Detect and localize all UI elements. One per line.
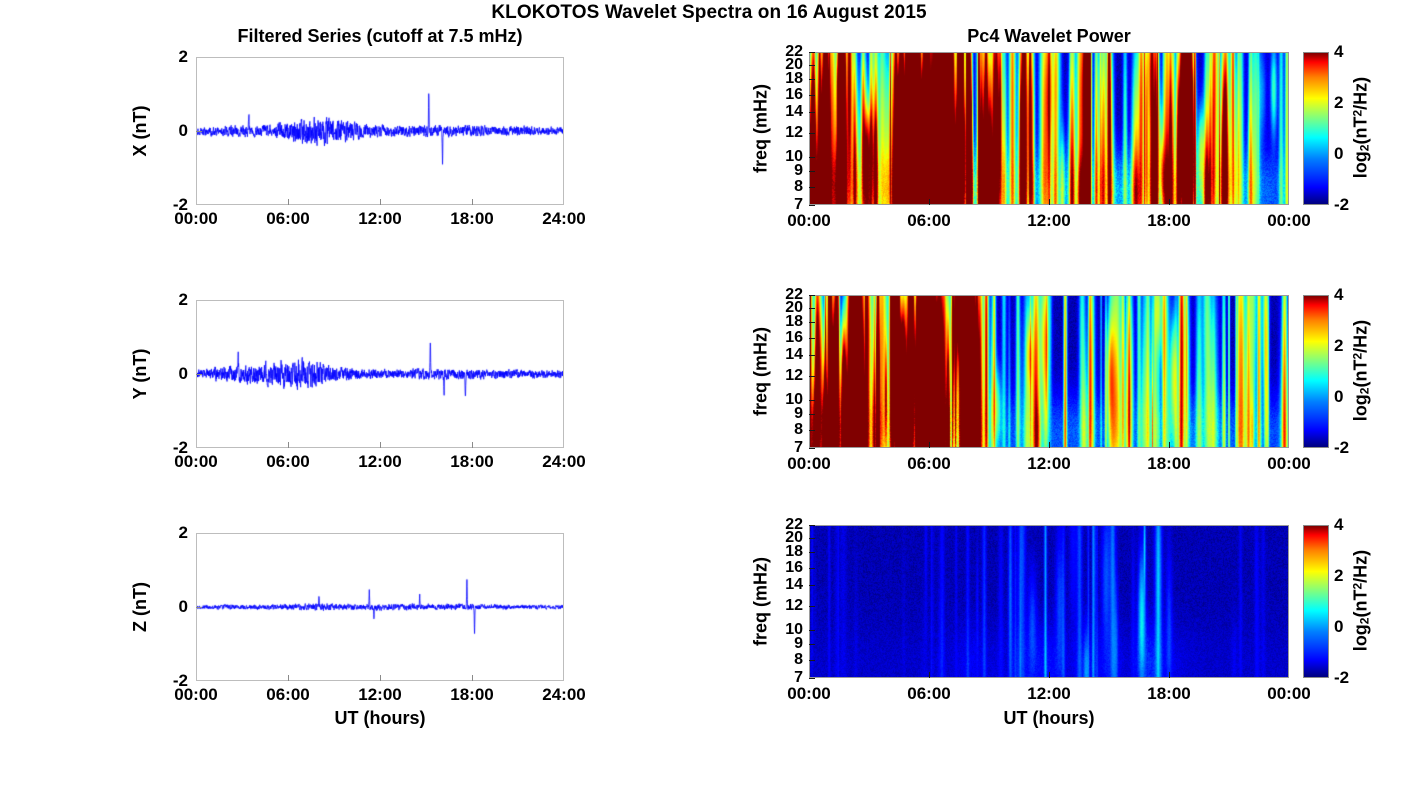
xtick-label-x-3: 18:00 bbox=[450, 209, 493, 229]
spec-ytick-mark-x-6 bbox=[809, 157, 815, 158]
spec-ytick-mark-y-7 bbox=[809, 414, 815, 415]
xtick-mark-y-2 bbox=[380, 442, 381, 448]
spec-ytick-mark-y-0 bbox=[809, 295, 815, 296]
spec-xtick-mark-z-1 bbox=[929, 672, 930, 678]
ytick-mark-z-1 bbox=[196, 607, 202, 608]
colorbar-tick-x-3: -2 bbox=[1334, 195, 1349, 215]
spec-ytick-mark-x-3 bbox=[809, 95, 815, 96]
spec-ytick-mark-x-2 bbox=[809, 79, 815, 80]
colorbar-y[interactable] bbox=[1303, 295, 1329, 448]
xtick-mark-y-1 bbox=[288, 442, 289, 448]
spec-ytick-mark-z-1 bbox=[809, 538, 815, 539]
spec-ytick-mark-y-3 bbox=[809, 338, 815, 339]
spec-xtick-label-x-2: 12:00 bbox=[1027, 211, 1070, 231]
spec-xtick-label-z-2: 12:00 bbox=[1027, 684, 1070, 704]
spectrogram-z bbox=[810, 526, 1288, 677]
spec-ytick-mark-x-0 bbox=[809, 52, 815, 53]
colorbar-tick-y-0: 4 bbox=[1334, 285, 1343, 305]
xtick-label-z-3: 18:00 bbox=[450, 685, 493, 705]
spec-xtick-label-x-4: 00:00 bbox=[1267, 211, 1310, 231]
spec-xtick-mark-z-3 bbox=[1169, 672, 1170, 678]
spec-xtick-mark-y-3 bbox=[1169, 442, 1170, 448]
xtick-label-x-2: 12:00 bbox=[358, 209, 401, 229]
spec-xtick-mark-x-2 bbox=[1049, 199, 1050, 205]
ytick-label-x-2: -2 bbox=[148, 195, 188, 215]
spec-xtick-label-x-3: 18:00 bbox=[1147, 211, 1190, 231]
xtick-mark-x-3 bbox=[472, 199, 473, 205]
colorbar-label-y: log2(nT2/Hz) bbox=[1351, 270, 1372, 470]
ytick-mark-x-1 bbox=[196, 131, 202, 132]
xtick-mark-z-3 bbox=[472, 675, 473, 681]
spec-xtick-label-y-0: 00:00 bbox=[787, 454, 830, 474]
spec-ytick-mark-x-5 bbox=[809, 133, 815, 134]
series-z-filtered bbox=[197, 534, 563, 680]
ytick-mark-y-1 bbox=[196, 374, 202, 375]
spec-ytick-mark-y-8 bbox=[809, 430, 815, 431]
colorbar-tick-x-2: 0 bbox=[1334, 144, 1343, 164]
colorbar-tick-z-2: 0 bbox=[1334, 617, 1343, 637]
spec-ytick-mark-z-6 bbox=[809, 630, 815, 631]
xtick-label-y-4: 24:00 bbox=[542, 452, 585, 472]
colorbar-tick-z-3: -2 bbox=[1334, 668, 1349, 688]
xtick-mark-z-1 bbox=[288, 675, 289, 681]
spec-ytick-mark-y-1 bbox=[809, 308, 815, 309]
spec-ytick-mark-x-8 bbox=[809, 187, 815, 188]
ytick-label-z-1: 0 bbox=[148, 597, 188, 617]
series-y-filtered bbox=[197, 301, 563, 447]
xtick-label-y-2: 12:00 bbox=[358, 452, 401, 472]
spec-xtick-label-z-1: 06:00 bbox=[907, 684, 950, 704]
spec-ytick-mark-y-9 bbox=[809, 448, 815, 449]
spec-ytick-mark-z-2 bbox=[809, 552, 815, 553]
colorbar-tick-x-1: 2 bbox=[1334, 93, 1343, 113]
spec-ytick-mark-z-7 bbox=[809, 644, 815, 645]
ytick-label-z-0: 2 bbox=[148, 523, 188, 543]
xlabel-right: UT (hours) bbox=[809, 708, 1289, 729]
figure-suptitle: KLOKOTOS Wavelet Spectra on 16 August 20… bbox=[0, 2, 1418, 24]
spec-xtick-mark-z-2 bbox=[1049, 672, 1050, 678]
spec-ytick-mark-y-4 bbox=[809, 355, 815, 356]
spec-ylabel-z: freq (mHz) bbox=[751, 501, 772, 701]
xtick-mark-z-2 bbox=[380, 675, 381, 681]
spec-ytick-mark-z-0 bbox=[809, 525, 815, 526]
ylabel-z: Z (nT) bbox=[129, 507, 151, 707]
colorbar-label-x: log2(nT2/Hz) bbox=[1351, 27, 1372, 227]
column-title-filtered-series: Filtered Series (cutoff at 7.5 mHz) bbox=[196, 26, 564, 47]
colorbar-tick-z-0: 4 bbox=[1334, 515, 1343, 535]
spec-ytick-mark-y-5 bbox=[809, 376, 815, 377]
xtick-label-x-1: 06:00 bbox=[266, 209, 309, 229]
spec-ytick-mark-z-4 bbox=[809, 585, 815, 586]
spec-xtick-label-x-0: 00:00 bbox=[787, 211, 830, 231]
spec-xtick-label-z-4: 00:00 bbox=[1267, 684, 1310, 704]
spec-ytick-mark-z-8 bbox=[809, 660, 815, 661]
xtick-mark-x-2 bbox=[380, 199, 381, 205]
xtick-label-z-4: 24:00 bbox=[542, 685, 585, 705]
spec-xtick-label-x-1: 06:00 bbox=[907, 211, 950, 231]
spec-xtick-label-y-2: 12:00 bbox=[1027, 454, 1070, 474]
spec-xtick-label-y-3: 18:00 bbox=[1147, 454, 1190, 474]
spectrogram-y bbox=[810, 296, 1288, 447]
column-title-wavelet-power: Pc4 Wavelet Power bbox=[809, 26, 1289, 47]
spec-ytick-mark-x-7 bbox=[809, 171, 815, 172]
colorbar-z[interactable] bbox=[1303, 525, 1329, 678]
ytick-label-y-0: 2 bbox=[148, 290, 188, 310]
spec-xtick-label-z-3: 18:00 bbox=[1147, 684, 1190, 704]
spec-ytick-mark-x-4 bbox=[809, 112, 815, 113]
colorbar-label-z: log2(nT2/Hz) bbox=[1351, 500, 1372, 700]
spec-xtick-mark-y-2 bbox=[1049, 442, 1050, 448]
colorbar-x[interactable] bbox=[1303, 52, 1329, 205]
xtick-label-x-4: 24:00 bbox=[542, 209, 585, 229]
colorbar-tick-y-1: 2 bbox=[1334, 336, 1343, 356]
spec-xtick-mark-x-3 bbox=[1169, 199, 1170, 205]
ytick-label-x-1: 0 bbox=[148, 121, 188, 141]
series-x-filtered bbox=[197, 58, 563, 204]
spec-xtick-label-y-4: 00:00 bbox=[1267, 454, 1310, 474]
ytick-label-y-2: -2 bbox=[148, 438, 188, 458]
colorbar-tick-y-2: 0 bbox=[1334, 387, 1343, 407]
xtick-label-z-1: 06:00 bbox=[266, 685, 309, 705]
spec-xtick-label-z-0: 00:00 bbox=[787, 684, 830, 704]
xlabel-left: UT (hours) bbox=[196, 708, 564, 729]
spec-ytick-mark-z-5 bbox=[809, 606, 815, 607]
ytick-label-z-2: -2 bbox=[148, 671, 188, 691]
xtick-mark-x-1 bbox=[288, 199, 289, 205]
xtick-label-y-1: 06:00 bbox=[266, 452, 309, 472]
xtick-label-z-2: 12:00 bbox=[358, 685, 401, 705]
ylabel-x: X (nT) bbox=[129, 31, 151, 231]
xtick-mark-y-3 bbox=[472, 442, 473, 448]
spec-ytick-mark-x-1 bbox=[809, 65, 815, 66]
ytick-label-y-1: 0 bbox=[148, 364, 188, 384]
spec-ytick-mark-z-3 bbox=[809, 568, 815, 569]
colorbar-tick-x-0: 4 bbox=[1334, 42, 1343, 62]
figure-canvas: KLOKOTOS Wavelet Spectra on 16 August 20… bbox=[0, 0, 1418, 788]
spec-ytick-mark-z-9 bbox=[809, 678, 815, 679]
ytick-label-x-0: 2 bbox=[148, 47, 188, 67]
spec-xtick-mark-y-1 bbox=[929, 442, 930, 448]
spec-ylabel-x: freq (mHz) bbox=[751, 28, 772, 228]
ylabel-y: Y (nT) bbox=[129, 274, 151, 474]
colorbar-tick-z-1: 2 bbox=[1334, 566, 1343, 586]
spec-ytick-mark-y-6 bbox=[809, 400, 815, 401]
spec-xtick-label-y-1: 06:00 bbox=[907, 454, 950, 474]
spec-ylabel-y: freq (mHz) bbox=[751, 271, 772, 471]
xtick-label-y-3: 18:00 bbox=[450, 452, 493, 472]
spec-ytick-mark-y-2 bbox=[809, 322, 815, 323]
spec-xtick-mark-x-1 bbox=[929, 199, 930, 205]
spectrogram-x bbox=[810, 53, 1288, 204]
colorbar-tick-y-3: -2 bbox=[1334, 438, 1349, 458]
spec-ytick-mark-x-9 bbox=[809, 205, 815, 206]
